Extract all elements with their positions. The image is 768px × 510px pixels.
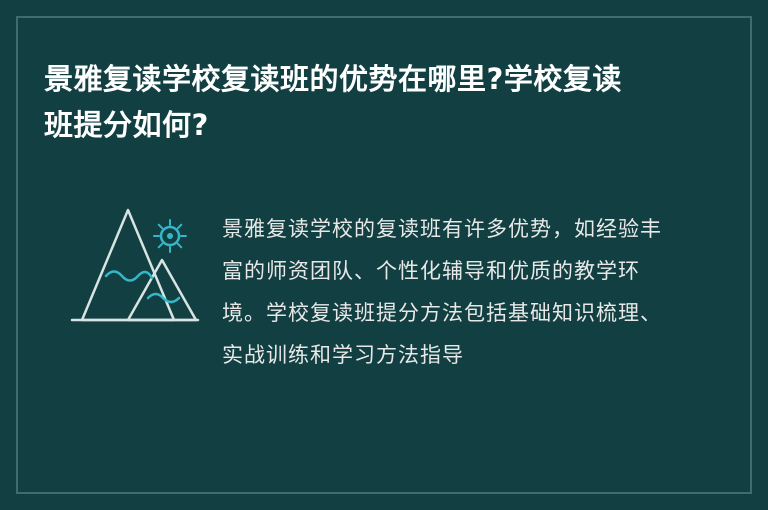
article-card: 景雅复读学校复读班的优势在哪里?学校复读班提分如何? (0, 0, 768, 510)
mountain-landscape-icon (70, 198, 200, 373)
article-body: 景雅复读学校的复读班有许多优势，如经验丰富的师资团队、个性化辅导和优质的教学环境… (222, 208, 662, 376)
page-title: 景雅复读学校复读班的优势在哪里?学校复读班提分如何? (44, 56, 644, 148)
